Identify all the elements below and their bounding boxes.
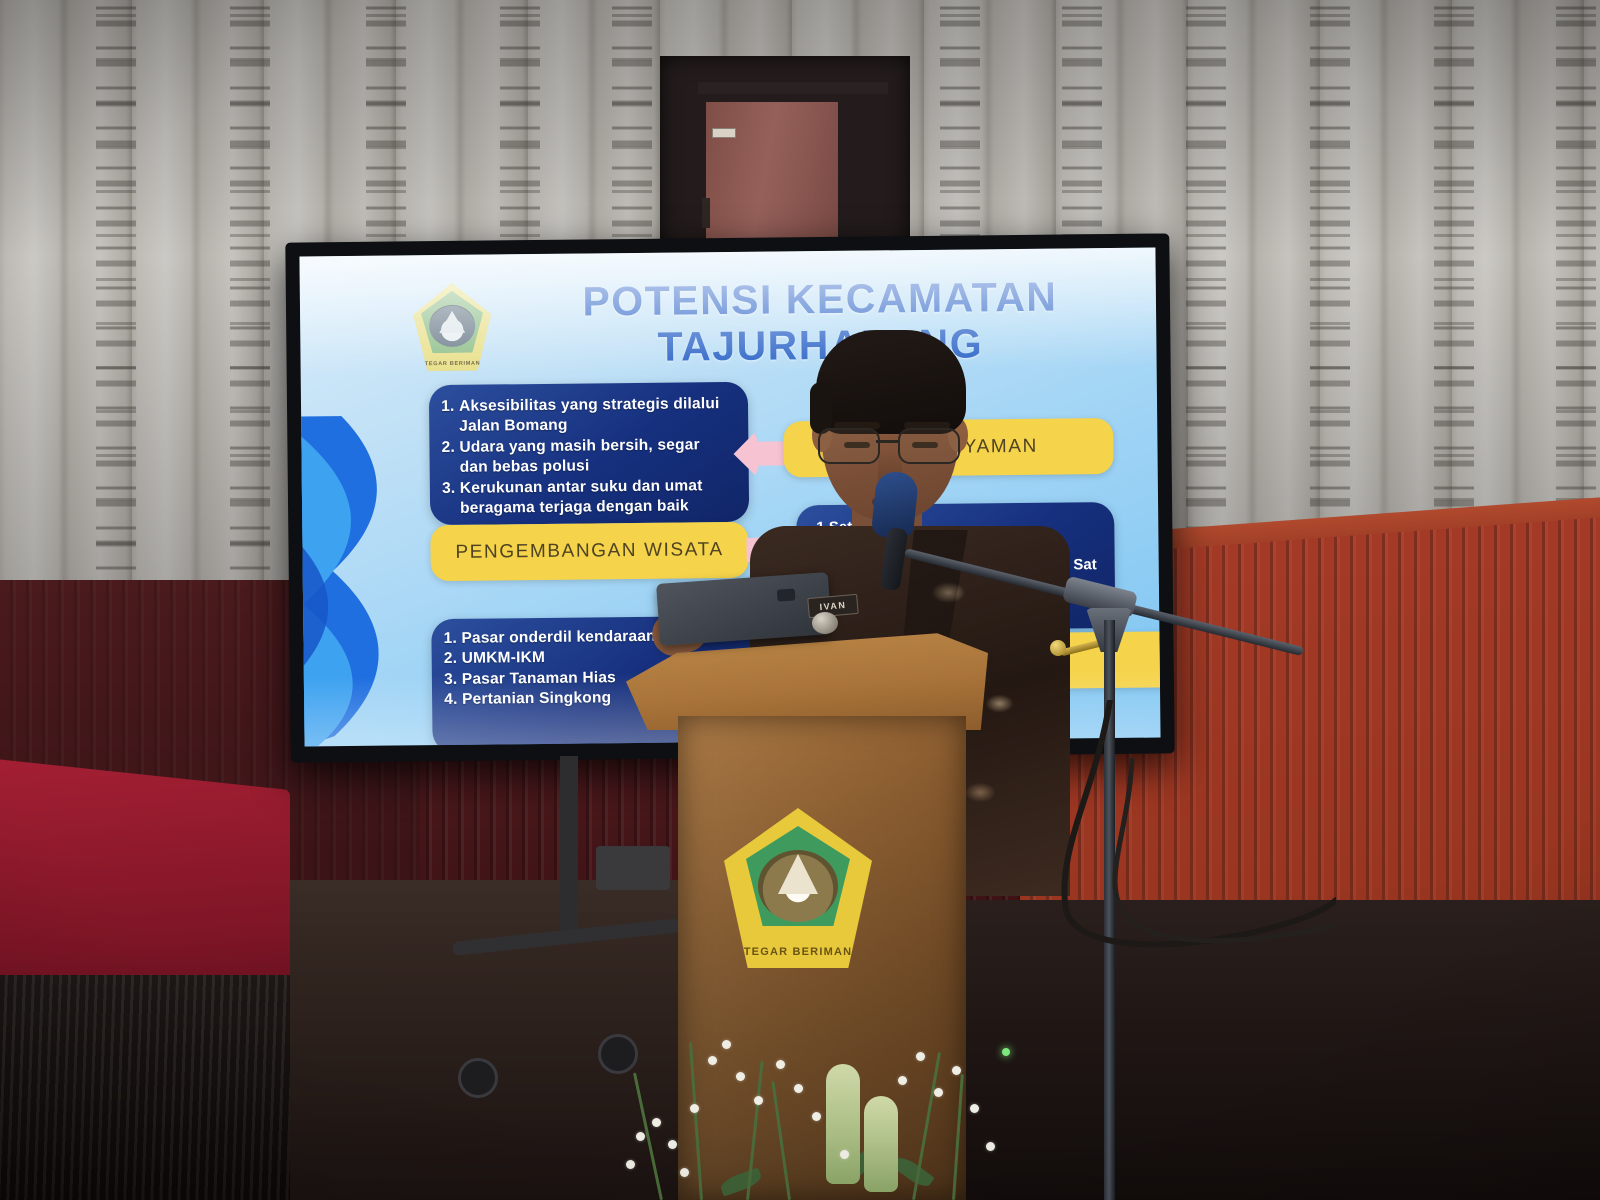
badge-clip (812, 612, 838, 634)
flower-bloom (840, 1150, 849, 1159)
flower-spike (826, 1064, 860, 1184)
flower-bloom (898, 1076, 907, 1085)
list-item: Udara yang masih bersih, segar dan bebas… (459, 435, 730, 479)
flower-bloom (916, 1052, 925, 1061)
flower-bloom (934, 1088, 943, 1097)
flower-bloom (754, 1096, 763, 1105)
flower-bloom (680, 1168, 689, 1177)
flower-bloom (776, 1060, 785, 1069)
flower-bloom (668, 1140, 677, 1149)
flower-bloom (736, 1072, 745, 1081)
flower-bloom (952, 1066, 961, 1075)
flower-bloom (652, 1118, 661, 1127)
flower-bloom (708, 1056, 717, 1065)
tv-stand-caster (458, 1058, 498, 1098)
tv-stand-box (596, 846, 670, 890)
laptop-camera-icon (777, 588, 796, 601)
flower-bloom (986, 1142, 995, 1151)
logo-triangle (439, 311, 465, 333)
glasses-bridge (876, 440, 898, 443)
flower-bloom (636, 1132, 645, 1141)
door-lintel (698, 82, 888, 94)
door-sign (712, 128, 736, 138)
side-table-skirt (0, 975, 290, 1200)
slide-box-potensi: Aksesibilitas yang strategis dilalui Jal… (429, 382, 749, 525)
flower-arrangement (540, 1000, 1010, 1200)
flower-bloom (690, 1104, 699, 1113)
list-item: Aksesibilitas yang strategis dilalui Jal… (459, 394, 730, 438)
flower-bloom (970, 1104, 979, 1113)
lens-right (898, 428, 960, 464)
leaf (719, 1167, 764, 1196)
meeting-room-photo: TEGAR BERIMAN POTENSI KECAMATAN TAJURHAL… (0, 0, 1600, 1200)
emblem-triangle (778, 854, 818, 894)
tv-stand-neck (560, 756, 578, 936)
flower-stem (689, 1042, 703, 1200)
slide-wave-decoration (301, 415, 424, 746)
flower-spike (864, 1096, 898, 1192)
flower-stem (952, 1074, 964, 1200)
lens-left (818, 428, 880, 464)
mic-boom-knob[interactable] (1050, 640, 1066, 656)
hair (816, 330, 966, 434)
flower-bloom (794, 1084, 803, 1093)
flower-bloom (722, 1040, 731, 1049)
doorway (660, 56, 910, 251)
logo-caption: TEGAR BERIMAN (414, 360, 492, 367)
mic-cable (1036, 700, 1336, 960)
door-hinge (702, 198, 710, 228)
regency-logo: TEGAR BERIMAN (413, 282, 492, 371)
list-item: Kerukunan antar suku dan umat beragama t… (460, 476, 731, 520)
slide-title-line1: POTENSI KECAMATAN (500, 274, 1140, 327)
flower-stem (771, 1081, 791, 1200)
slide-label-wisata: PENGEMBANGAN WISATA (430, 522, 749, 581)
flower-bloom (812, 1112, 821, 1121)
flower-bloom (626, 1160, 635, 1169)
podium-emblem: TEGAR BERIMAN (724, 808, 872, 968)
laptop[interactable] (656, 572, 832, 646)
open-door[interactable] (706, 102, 838, 252)
emblem-caption: TEGAR BERIMAN (724, 946, 872, 958)
